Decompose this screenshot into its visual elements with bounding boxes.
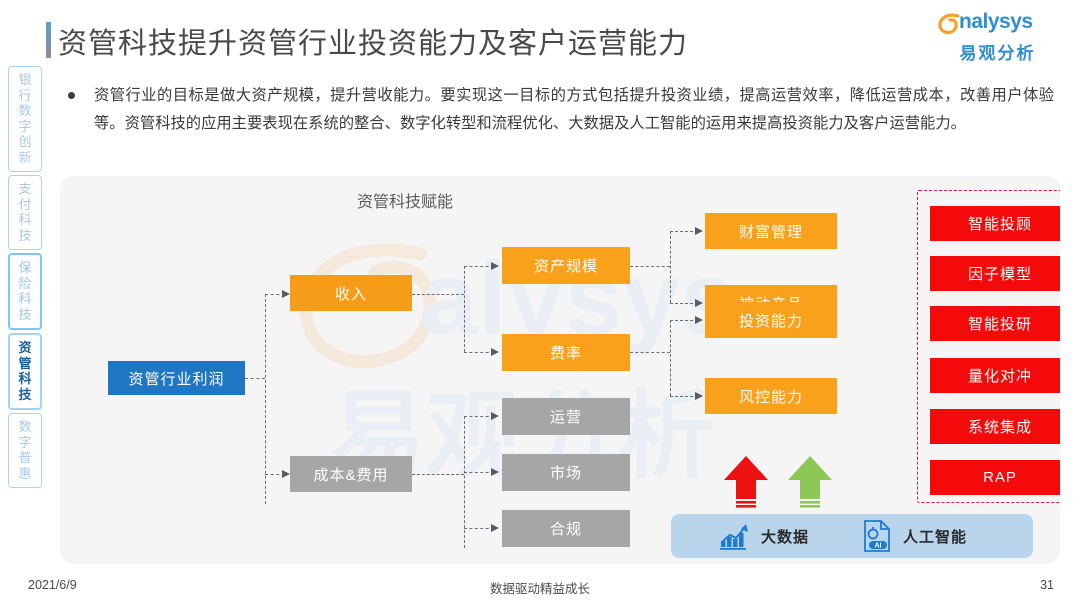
tab-char: 管 <box>10 356 40 372</box>
tab-char: 付 <box>9 197 41 213</box>
tab-char: 技 <box>10 307 40 323</box>
sidebar-item-insurance-tech[interactable]: 保 险 科 技 <box>8 253 42 330</box>
node-smart-research[interactable]: 智能投研 <box>930 306 1060 341</box>
node-asset-scale[interactable]: 资产规模 <box>502 247 630 284</box>
node-risk-control-capability[interactable]: 风控能力 <box>705 378 837 414</box>
title-accent-bar <box>46 22 51 58</box>
node-label: 资管行业利润 <box>128 368 224 389</box>
node-label: 系统集成 <box>968 416 1032 437</box>
edge-line <box>412 294 464 295</box>
foundation-item-big-data[interactable]: 大数据 <box>717 521 809 551</box>
node-label: 合规 <box>550 518 582 539</box>
node-investment-capability[interactable]: 投资能力 <box>705 302 837 338</box>
tab-char: 惠 <box>9 466 41 482</box>
foundation-label: 人工智能 <box>903 526 967 547</box>
edge-arrow <box>491 412 499 420</box>
logo-chinese: 易观分析 <box>935 39 1060 64</box>
footer: 2021/6/9 数据驱动精益成长 31 <box>0 578 1080 600</box>
page-title: 资管科技提升资管行业投资能力及客户运营能力 <box>58 20 688 62</box>
edge-line <box>464 472 494 473</box>
node-asset-mgmt-industry-profit[interactable]: 资管行业利润 <box>108 361 245 395</box>
analysys-logo: nalysys 易观分析 <box>935 10 1060 64</box>
logo-wordmark-row: nalysys <box>935 10 1060 38</box>
node-operations[interactable]: 运营 <box>502 398 630 435</box>
red-up-arrow-icon <box>722 454 770 512</box>
tab-char: 银 <box>9 72 41 88</box>
node-label: 智能投顾 <box>968 213 1032 234</box>
bar-chart-icon <box>717 521 751 551</box>
tab-char: 新 <box>9 150 41 166</box>
node-label: RAP <box>983 469 1017 486</box>
node-rap[interactable]: RAP <box>930 460 1060 495</box>
tab-char: 字 <box>9 435 41 451</box>
node-label: 资产规模 <box>534 255 598 276</box>
node-label: 投资能力 <box>739 310 803 331</box>
node-label: 运营 <box>550 406 582 427</box>
body-paragraph: 资管行业的目标是做大资产规模，提升营收能力。要实现这一目标的方式包括提升投资业绩… <box>94 82 1054 138</box>
tab-char: 数 <box>9 419 41 435</box>
sidebar-tabs: 银 行 数 字 创 新 支 付 科 技 保 险 科 技 资 管 科 技 数 字 <box>8 66 42 491</box>
tab-char: 科 <box>9 212 41 228</box>
edge-arrow <box>491 262 499 270</box>
node-system-integration[interactable]: 系统集成 <box>930 409 1060 444</box>
edge-line <box>464 528 494 529</box>
logo-word: nalysys <box>959 10 1033 34</box>
tab-char: 技 <box>10 387 40 403</box>
diagram-title: 资管科技赋能 <box>60 188 1060 212</box>
edge-arrow <box>282 290 290 298</box>
bullet-point-icon <box>68 92 75 99</box>
tab-char: 保 <box>10 260 40 276</box>
tab-char: 行 <box>9 88 41 104</box>
node-factor-model[interactable]: 因子模型 <box>930 256 1060 291</box>
tab-char: 科 <box>10 371 40 387</box>
edge-arrow <box>491 348 499 356</box>
edge-line <box>670 396 698 397</box>
edge-line <box>630 352 670 353</box>
node-wealth-management[interactable]: 财富管理 <box>705 213 837 249</box>
node-quantitative-hedging[interactable]: 量化对冲 <box>930 358 1060 393</box>
sidebar-item-asset-management-tech[interactable]: 资 管 科 技 <box>8 333 42 410</box>
node-market[interactable]: 市场 <box>502 454 630 491</box>
edge-line <box>670 231 698 232</box>
edge-line <box>464 266 494 267</box>
sidebar-item-payment-tech[interactable]: 支 付 科 技 <box>8 175 42 250</box>
node-label: 智能投研 <box>968 313 1032 334</box>
tab-char: 技 <box>9 228 41 244</box>
footer-page-number: 31 <box>1040 578 1054 592</box>
tab-char: 创 <box>9 134 41 150</box>
node-cost-and-expense[interactable]: 成本&费用 <box>290 456 412 492</box>
sidebar-item-bank-digital-innovation[interactable]: 银 行 数 字 创 新 <box>8 66 42 172</box>
foundation-label: 大数据 <box>761 526 809 547</box>
tab-char: 险 <box>10 276 40 292</box>
node-fee-rate[interactable]: 费率 <box>502 334 630 371</box>
node-label: 财富管理 <box>739 221 803 242</box>
edge-line <box>670 320 698 321</box>
edge-line <box>265 294 266 504</box>
edge-line <box>412 474 464 475</box>
edge-line <box>670 231 671 303</box>
tab-char: 资 <box>10 340 40 356</box>
edge-arrow <box>695 227 703 235</box>
edge-line <box>630 266 670 267</box>
tab-char: 普 <box>9 450 41 466</box>
edge-line <box>464 266 465 352</box>
foundation-item-ai[interactable]: AI 人工智能 <box>861 519 967 553</box>
node-label: 收入 <box>335 283 367 304</box>
node-label: 因子模型 <box>968 263 1032 284</box>
edge-line <box>670 303 698 304</box>
green-up-arrow-icon <box>786 454 834 512</box>
node-label: 量化对冲 <box>968 365 1032 386</box>
slide-root: 资管科技提升资管行业投资能力及客户运营能力 nalysys 易观分析 银 行 数… <box>0 0 1080 608</box>
edge-line <box>464 352 494 353</box>
edge-line <box>464 416 494 417</box>
edge-arrow <box>695 316 703 324</box>
node-revenue[interactable]: 收入 <box>290 275 412 311</box>
svg-text:AI: AI <box>875 543 882 550</box>
node-label: 费率 <box>550 342 582 363</box>
edge-line <box>670 320 671 396</box>
edge-arrow <box>491 468 499 476</box>
node-robo-advisor[interactable]: 智能投顾 <box>930 206 1060 241</box>
foundation-bar: 大数据 AI 人工智能 <box>671 514 1033 558</box>
tab-char: 数 <box>9 103 41 119</box>
edge-arrow <box>695 392 703 400</box>
node-label: 成本&费用 <box>313 464 388 485</box>
node-compliance[interactable]: 合规 <box>502 510 630 547</box>
ai-document-icon: AI <box>861 519 893 553</box>
node-label: 市场 <box>550 462 582 483</box>
edge-line <box>245 378 265 379</box>
tab-char: 科 <box>10 291 40 307</box>
edge-arrow <box>695 299 703 307</box>
node-label: 风控能力 <box>739 386 803 407</box>
edge-arrow <box>491 524 499 532</box>
tab-char: 字 <box>9 119 41 135</box>
footer-slogan: 数据驱动精益成长 <box>0 578 1080 597</box>
tab-char: 支 <box>9 181 41 197</box>
edge-arrow <box>282 470 290 478</box>
sidebar-item-digital-inclusive-finance[interactable]: 数 字 普 惠 <box>8 413 42 488</box>
diagram-card: alysys 易观分析 资管科技赋能 <box>60 176 1060 564</box>
